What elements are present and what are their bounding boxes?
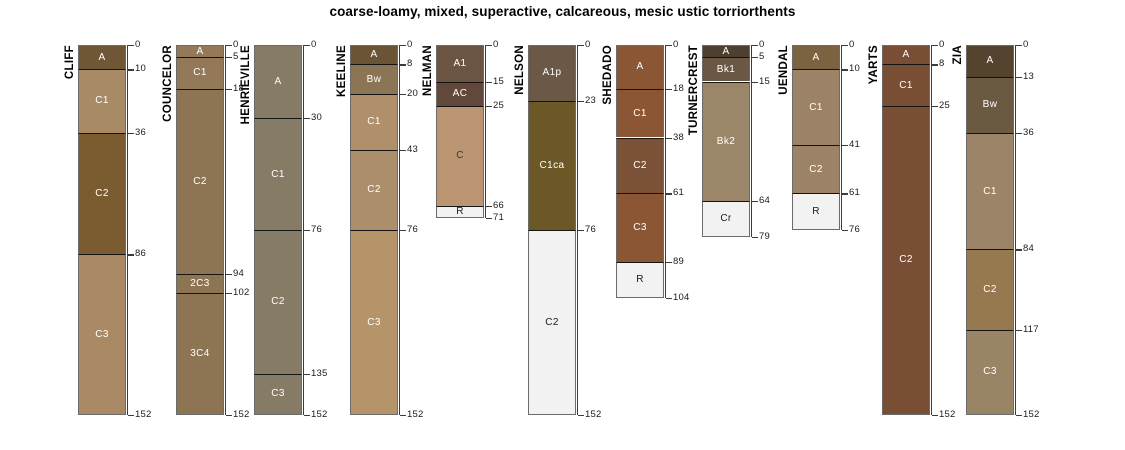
horizon-label: R xyxy=(812,207,820,217)
axis-tick xyxy=(304,230,310,231)
profile-name-label: NELMAN xyxy=(422,45,434,96)
axis-tick-label: 8 xyxy=(407,58,412,69)
axis-tick xyxy=(752,57,758,58)
horizon-segment: C1 xyxy=(176,57,224,89)
horizon-segment: C xyxy=(436,106,484,206)
axis-tick-label: 0 xyxy=(849,39,854,50)
profile-column: A1pC1caC2 xyxy=(528,45,576,415)
horizon-label: A xyxy=(196,47,203,57)
axis-tick-label: 71 xyxy=(493,212,504,223)
horizon-label: C3 xyxy=(983,367,997,377)
axis-tick-label: 5 xyxy=(233,51,238,62)
horizon-segment: C1 xyxy=(616,89,664,138)
horizon-segment: A xyxy=(78,45,126,69)
axis-tick-label: 0 xyxy=(939,39,944,50)
axis-tick xyxy=(486,106,492,107)
horizon-label: C2 xyxy=(271,297,285,307)
axis-tick xyxy=(666,298,672,299)
horizon-label: C2 xyxy=(899,255,913,265)
profile-column: ABwC1C2C3 xyxy=(350,45,398,415)
axis-tick-label: 30 xyxy=(311,112,322,123)
horizon-segment: A xyxy=(350,45,398,64)
depth-axis-line xyxy=(751,45,752,237)
horizon-label: C1 xyxy=(271,170,285,180)
profile-column: AC1C2 xyxy=(882,45,930,415)
horizon-label: A xyxy=(812,53,819,63)
profile-column: AC1C2C3 xyxy=(78,45,126,415)
horizon-label: Bw xyxy=(367,75,382,85)
axis-tick-label: 76 xyxy=(849,224,860,235)
depth-axis-line xyxy=(1015,45,1016,415)
horizon-segment: A xyxy=(966,45,1014,77)
horizon-label: C2 xyxy=(983,285,997,295)
horizon-label: C2 xyxy=(367,185,381,195)
horizon-label: C2 xyxy=(545,318,559,328)
axis-tick xyxy=(400,94,406,95)
axis-tick-label: 8 xyxy=(939,58,944,69)
profile-name-label: ZIA xyxy=(952,45,964,64)
horizon-segment: C2 xyxy=(882,106,930,415)
axis-tick xyxy=(128,69,134,70)
axis-tick xyxy=(932,106,938,107)
axis-tick xyxy=(486,82,492,83)
axis-tick xyxy=(932,415,938,416)
axis-tick-label: 152 xyxy=(585,409,601,420)
axis-tick-label: 0 xyxy=(233,39,238,50)
axis-tick xyxy=(752,237,758,238)
horizon-label: C2 xyxy=(633,161,647,171)
axis-tick-label: 86 xyxy=(135,248,146,259)
axis-tick xyxy=(128,415,134,416)
horizon-label: A xyxy=(274,77,281,87)
horizon-segment: Bw xyxy=(350,64,398,93)
horizon-label: C1 xyxy=(367,117,381,127)
horizon-label: C3 xyxy=(633,223,647,233)
horizon-segment: C1 xyxy=(882,64,930,105)
axis-tick-label: 0 xyxy=(1023,39,1028,50)
horizon-label: C1 xyxy=(95,96,109,106)
axis-tick-label: 0 xyxy=(673,39,678,50)
axis-tick xyxy=(932,45,938,46)
axis-tick xyxy=(400,230,406,231)
axis-tick xyxy=(304,118,310,119)
horizon-label: A xyxy=(636,62,643,72)
page-title: coarse-loamy, mixed, superactive, calcar… xyxy=(0,4,1125,19)
horizon-segment: AC xyxy=(436,82,484,106)
axis-tick xyxy=(128,45,134,46)
axis-tick xyxy=(666,262,672,263)
axis-tick-label: 104 xyxy=(673,292,689,303)
horizon-segment: C3 xyxy=(616,193,664,261)
axis-tick xyxy=(400,64,406,65)
axis-tick-label: 20 xyxy=(407,88,418,99)
profile-name-label: HENRIEVILLE xyxy=(240,45,252,124)
axis-tick xyxy=(842,45,848,46)
horizon-label: C1 xyxy=(633,109,647,119)
axis-tick xyxy=(226,415,232,416)
horizon-label: R xyxy=(456,207,464,217)
axis-tick-label: 23 xyxy=(585,95,596,106)
axis-tick-label: 102 xyxy=(233,287,249,298)
axis-tick xyxy=(578,230,584,231)
axis-tick-label: 36 xyxy=(135,127,146,138)
axis-tick-label: 10 xyxy=(135,63,146,74)
axis-tick xyxy=(304,415,310,416)
axis-tick xyxy=(1016,249,1022,250)
horizon-segment: A xyxy=(882,45,930,64)
profile-column: AC1C2C3R xyxy=(616,45,664,298)
axis-tick xyxy=(666,138,672,139)
horizon-segment: C2 xyxy=(528,230,576,415)
axis-tick-label: 18 xyxy=(673,83,684,94)
axis-tick-label: 15 xyxy=(759,76,770,87)
horizon-segment: C3 xyxy=(78,254,126,415)
axis-tick xyxy=(400,150,406,151)
axis-tick-label: 0 xyxy=(407,39,412,50)
axis-tick-label: 79 xyxy=(759,231,770,242)
horizon-segment: Bk1 xyxy=(702,57,750,81)
axis-tick xyxy=(666,89,672,90)
horizon-label: C3 xyxy=(271,389,285,399)
horizon-label: A1 xyxy=(453,59,466,69)
horizon-segment: C2 xyxy=(792,145,840,194)
horizon-label: 3C4 xyxy=(190,349,210,359)
axis-tick xyxy=(842,193,848,194)
axis-tick-label: 152 xyxy=(135,409,151,420)
axis-tick-label: 76 xyxy=(407,224,418,235)
horizon-segment: A1p xyxy=(528,45,576,101)
axis-tick-label: 76 xyxy=(311,224,322,235)
horizon-label: Cr xyxy=(720,214,731,224)
horizon-label: C1 xyxy=(809,103,823,113)
axis-tick xyxy=(226,274,232,275)
axis-tick xyxy=(842,145,848,146)
axis-tick xyxy=(304,374,310,375)
axis-tick-label: 76 xyxy=(585,224,596,235)
axis-tick-label: 0 xyxy=(493,39,498,50)
axis-tick-label: 152 xyxy=(407,409,423,420)
axis-tick-label: 43 xyxy=(407,144,418,155)
horizon-label: Bw xyxy=(983,100,998,110)
horizon-label: C3 xyxy=(95,330,109,340)
axis-tick xyxy=(128,133,134,134)
horizon-segment: C2 xyxy=(78,133,126,255)
horizon-label: C1ca xyxy=(540,161,565,171)
axis-tick-label: 152 xyxy=(1023,409,1039,420)
horizon-segment: C1 xyxy=(254,118,302,230)
axis-tick xyxy=(486,218,492,219)
axis-tick xyxy=(578,415,584,416)
axis-tick xyxy=(752,201,758,202)
axis-tick xyxy=(842,230,848,231)
axis-tick-label: 84 xyxy=(1023,243,1034,254)
axis-tick-label: 0 xyxy=(135,39,140,50)
horizon-label: A xyxy=(98,53,105,63)
axis-tick-label: 25 xyxy=(493,100,504,111)
axis-tick-label: 66 xyxy=(493,200,504,211)
axis-tick xyxy=(752,45,758,46)
axis-tick-label: 10 xyxy=(849,63,860,74)
depth-axis-line xyxy=(127,45,128,415)
soil-profile-chart: CLIFFAC1C2C30103686152COUNCELORAC1C22C33… xyxy=(0,40,1125,440)
horizon-segment: A xyxy=(254,45,302,118)
axis-tick xyxy=(1016,330,1022,331)
horizon-segment: A xyxy=(702,45,750,57)
axis-tick xyxy=(486,45,492,46)
horizon-label: C xyxy=(456,151,464,161)
axis-tick-label: 61 xyxy=(849,187,860,198)
profile-column: ABwC1C2C3 xyxy=(966,45,1014,415)
axis-tick xyxy=(1016,45,1022,46)
horizon-label: C3 xyxy=(367,318,381,328)
axis-tick xyxy=(1016,77,1022,78)
axis-tick-label: 13 xyxy=(1023,71,1034,82)
axis-tick xyxy=(1016,415,1022,416)
axis-tick xyxy=(400,415,406,416)
axis-tick xyxy=(128,254,134,255)
axis-tick-label: 64 xyxy=(759,195,770,206)
axis-tick-label: 41 xyxy=(849,139,860,150)
profile-column: A1ACCR xyxy=(436,45,484,218)
horizon-segment: C2 xyxy=(966,249,1014,329)
horizon-segment: C1 xyxy=(78,69,126,132)
profile-name-label: YARTS xyxy=(868,45,880,84)
horizon-label: C1 xyxy=(193,68,207,78)
axis-tick xyxy=(226,293,232,294)
horizon-label: Bk2 xyxy=(717,137,735,147)
axis-tick-label: 152 xyxy=(311,409,327,420)
horizon-segment: C1 xyxy=(350,94,398,150)
horizon-label: AC xyxy=(453,89,468,99)
profile-name-label: SHEDADO xyxy=(602,45,614,105)
horizon-segment: C2 xyxy=(176,89,224,274)
profile-name-label: KEELINE xyxy=(336,45,348,97)
depth-axis-line xyxy=(225,45,226,415)
horizon-segment: A1 xyxy=(436,45,484,82)
profile-column: AC1C2R xyxy=(792,45,840,230)
axis-tick xyxy=(842,69,848,70)
profile-column: AC1C2C3 xyxy=(254,45,302,415)
axis-tick-label: 0 xyxy=(311,39,316,50)
profile-name-label: TURNERCREST xyxy=(688,45,700,135)
profile-name-label: UENDAL xyxy=(778,45,790,95)
axis-tick-label: 117 xyxy=(1023,324,1039,335)
axis-tick xyxy=(932,64,938,65)
horizon-label: C2 xyxy=(809,165,823,175)
horizon-segment: Bw xyxy=(966,77,1014,133)
horizon-segment: A xyxy=(792,45,840,69)
horizon-segment: Bk2 xyxy=(702,82,750,201)
horizon-segment: C1 xyxy=(966,133,1014,250)
horizon-segment: R xyxy=(436,206,484,218)
horizon-segment: C2 xyxy=(616,138,664,194)
axis-tick-label: 5 xyxy=(759,51,764,62)
axis-tick-label: 89 xyxy=(673,256,684,267)
profile-column: AC1C22C33C4 xyxy=(176,45,224,415)
profile-name-label: NELSON xyxy=(514,45,526,95)
horizon-segment: R xyxy=(792,193,840,230)
axis-tick xyxy=(486,206,492,207)
axis-tick xyxy=(304,45,310,46)
profile-column: ABk1Bk2Cr xyxy=(702,45,750,237)
axis-tick xyxy=(226,89,232,90)
axis-tick-label: 38 xyxy=(673,132,684,143)
horizon-label: R xyxy=(636,275,644,285)
horizon-label: A xyxy=(986,56,993,66)
depth-axis-line xyxy=(485,45,486,218)
horizon-segment: C2 xyxy=(254,230,302,374)
horizon-label: C2 xyxy=(95,189,109,199)
axis-tick xyxy=(1016,133,1022,134)
axis-tick-label: 25 xyxy=(939,100,950,111)
horizon-segment: 2C3 xyxy=(176,274,224,293)
axis-tick-label: 152 xyxy=(939,409,955,420)
axis-tick-label: 61 xyxy=(673,187,684,198)
axis-tick-label: 0 xyxy=(585,39,590,50)
horizon-label: C1 xyxy=(983,187,997,197)
horizon-segment: A xyxy=(176,45,224,57)
axis-tick-label: 152 xyxy=(233,409,249,420)
horizon-segment: C1 xyxy=(792,69,840,144)
axis-tick xyxy=(578,45,584,46)
horizon-segment: C3 xyxy=(254,374,302,415)
horizon-label: A xyxy=(722,47,729,57)
axis-tick-label: 135 xyxy=(311,368,327,379)
axis-tick-label: 36 xyxy=(1023,127,1034,138)
horizon-label: A xyxy=(902,50,909,60)
horizon-segment: R xyxy=(616,262,664,299)
axis-tick xyxy=(226,57,232,58)
horizon-label: A1p xyxy=(543,68,562,78)
axis-tick xyxy=(226,45,232,46)
profile-name-label: COUNCELOR xyxy=(162,45,174,122)
depth-axis-line xyxy=(841,45,842,230)
depth-axis-line xyxy=(665,45,666,298)
horizon-label: C1 xyxy=(899,81,913,91)
axis-tick-label: 94 xyxy=(233,268,244,279)
axis-tick xyxy=(400,45,406,46)
axis-tick-label: 15 xyxy=(493,76,504,87)
axis-tick xyxy=(666,45,672,46)
horizon-segment: C3 xyxy=(350,230,398,415)
horizon-segment: Cr xyxy=(702,201,750,238)
horizon-label: 2C3 xyxy=(190,279,210,289)
axis-tick-label: 0 xyxy=(759,39,764,50)
axis-tick xyxy=(578,101,584,102)
depth-axis-line xyxy=(931,45,932,415)
axis-tick xyxy=(666,193,672,194)
horizon-label: C2 xyxy=(193,177,207,187)
horizon-label: Bk1 xyxy=(717,65,735,75)
horizon-segment: A xyxy=(616,45,664,89)
horizon-segment: C3 xyxy=(966,330,1014,415)
profile-name-label: CLIFF xyxy=(64,45,76,79)
horizon-segment: 3C4 xyxy=(176,293,224,415)
axis-tick xyxy=(752,82,758,83)
horizon-segment: C2 xyxy=(350,150,398,230)
horizon-label: A xyxy=(370,50,377,60)
horizon-segment: C1ca xyxy=(528,101,576,230)
